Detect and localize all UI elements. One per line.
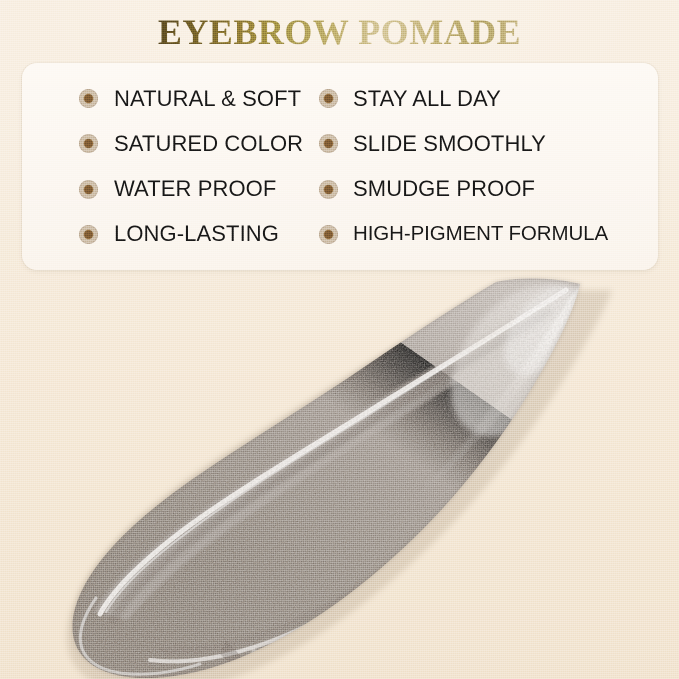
bullet-dot-icon [319, 225, 338, 244]
feature-item-slide-smoothly: SLIDE SMOOTHLY [318, 121, 658, 166]
feature-item-satured-color: SATURED COLOR [22, 121, 318, 166]
page-title-text: EYEBROW POMADE [158, 12, 521, 53]
feature-label: SMUDGE PROOF [353, 176, 535, 202]
feature-item-water-proof: WATER PROOF [22, 167, 318, 212]
page-title: EYEBROW POMADE [0, 12, 679, 53]
feature-label: SATURED COLOR [114, 131, 303, 157]
feature-item-smudge-proof: SMUDGE PROOF [318, 167, 658, 212]
feature-label: STAY ALL DAY [353, 86, 501, 112]
bullet-dot-icon [79, 134, 98, 153]
feature-item-high-pigment-formula: HIGH-PIGMENT FORMULA [318, 212, 658, 257]
feature-item-long-lasting: LONG-LASTING [22, 212, 318, 257]
feature-item-stay-all-day: STAY ALL DAY [318, 76, 658, 121]
bullet-dot-icon [79, 225, 98, 244]
feature-label: LONG-LASTING [114, 221, 279, 247]
feature-label: WATER PROOF [114, 176, 276, 202]
features-grid: NATURAL & SOFT STAY ALL DAY SATURED COLO… [22, 63, 658, 270]
bullet-dot-icon [319, 180, 338, 199]
feature-label: SLIDE SMOOTHLY [353, 131, 546, 157]
bullet-dot-icon [319, 89, 338, 108]
bullet-dot-icon [79, 89, 98, 108]
product-graphic: EYEBROW POMADE NATURAL & SOFT STAY ALL D… [0, 0, 679, 679]
features-card: NATURAL & SOFT STAY ALL DAY SATURED COLO… [22, 63, 658, 270]
pomade-smear-swatch [0, 268, 679, 679]
pomade-smear-shape [0, 268, 679, 679]
bullet-dot-icon [319, 134, 338, 153]
feature-label: NATURAL & SOFT [114, 86, 301, 112]
feature-label: HIGH-PIGMENT FORMULA [353, 222, 608, 246]
bullet-dot-icon [79, 180, 98, 199]
feature-item-natural-and-soft: NATURAL & SOFT [22, 76, 318, 121]
